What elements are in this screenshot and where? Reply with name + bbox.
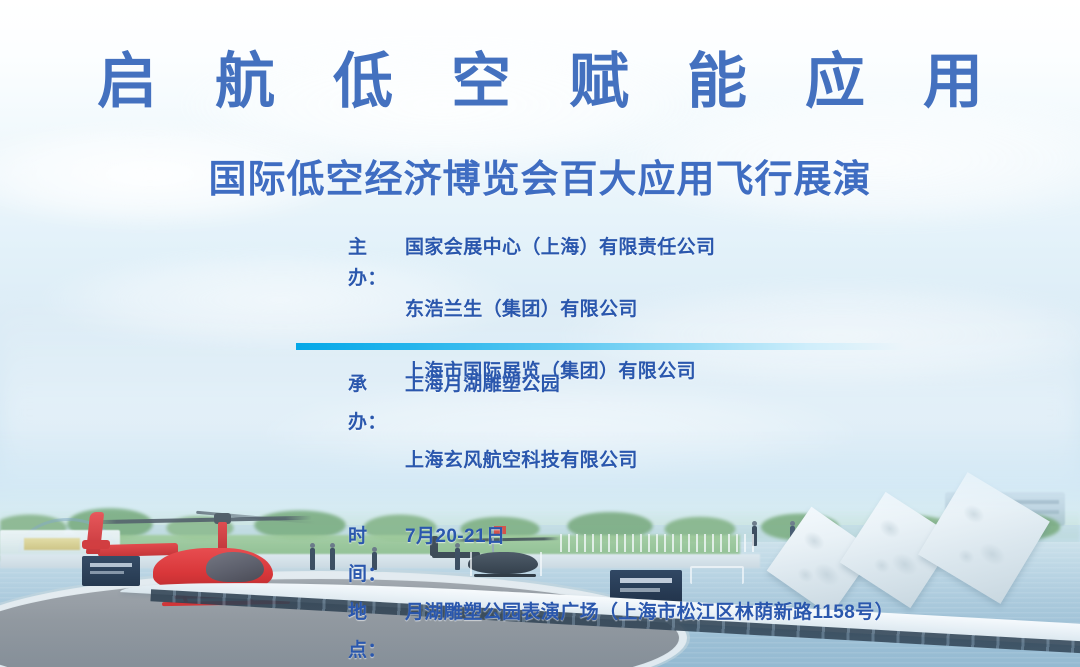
poster-root: 启航低空赋能应用 国际低空经济博览会百大应用飞行展演 主办： 国家会展中心（上海… [0, 0, 1080, 667]
main-title: 启航低空赋能应用 [0, 52, 1080, 112]
venue-label: 地点： [348, 594, 405, 667]
sub-title: 国际低空经济博览会百大应用飞行展演 [0, 158, 1080, 204]
details-block: 承办： 上海月湖雕塑公园 承办： 上海玄风航空科技有限公司 时间： 7月20-2… [0, 366, 1080, 667]
time-label: 时间： [348, 518, 405, 594]
co-organizer-row: 承办： 上海月湖雕塑公园 [0, 366, 1080, 442]
time-row: 时间： 7月20-21日 [0, 518, 1080, 594]
organizer-row: 主办： 国家会展中心（上海）有限责任公司 [0, 232, 1080, 294]
co-organizer-value: 上海月湖雕塑公园 [405, 366, 560, 404]
co-organizer-label: 承办： [348, 366, 405, 442]
divider-bar [296, 343, 906, 350]
co-organizer-value: 上海玄风航空科技有限公司 [405, 442, 638, 480]
organizer-label: 主办： [348, 232, 405, 294]
organizer-value: 国家会展中心（上海）有限责任公司 [405, 232, 715, 263]
divider [0, 343, 1080, 351]
organizer-value: 东浩兰生（集团）有限公司 [405, 294, 638, 325]
text-overlay: 启航低空赋能应用 国际低空经济博览会百大应用飞行展演 主办： 国家会展中心（上海… [0, 0, 1080, 667]
venue-value: 月湖雕塑公园表演广场（上海市松江区林荫新路1158号） [405, 594, 894, 632]
co-organizer-row: 承办： 上海玄风航空科技有限公司 [0, 442, 1080, 518]
venue-row: 地点： 月湖雕塑公园表演广场（上海市松江区林荫新路1158号） [0, 594, 1080, 667]
time-value: 7月20-21日 [405, 518, 505, 556]
